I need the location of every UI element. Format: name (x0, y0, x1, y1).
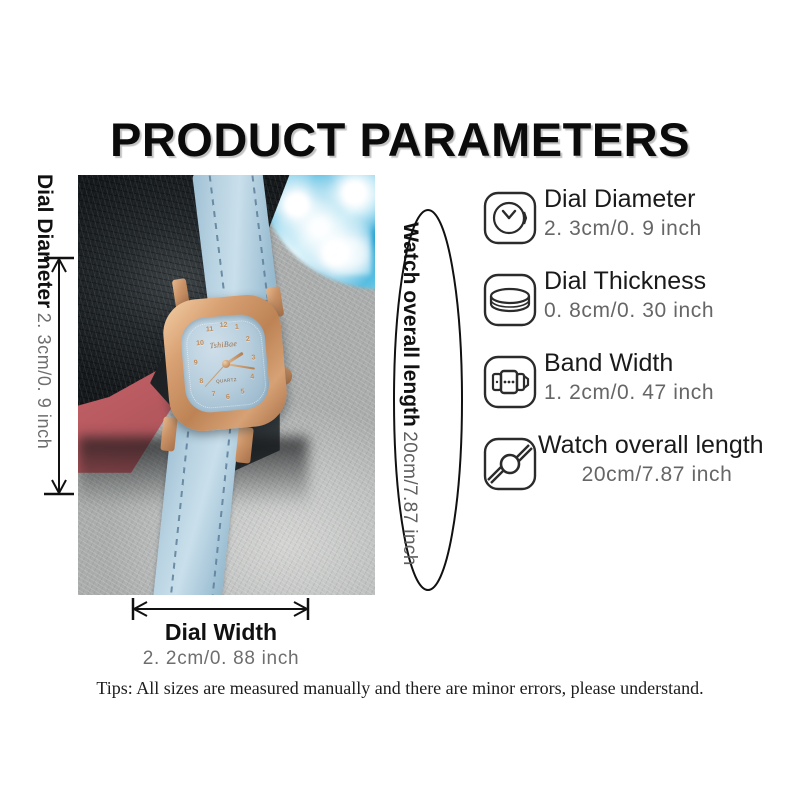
dial-numeral: 8 (199, 378, 204, 385)
cylinder-thickness-icon (482, 272, 538, 328)
dial-numeral: 1 (235, 324, 240, 331)
watch-overall-length-ellipse-label: Watch overall length 20cm/7.87 inch (398, 212, 422, 576)
dial-numeral: 5 (240, 388, 245, 395)
parameter-text-watch-overall-length: Watch overall length 20cm/7.87 inch (538, 430, 788, 489)
photo-tiedye-highlight (285, 183, 371, 275)
dial-numeral: 3 (251, 354, 256, 361)
parameter-row-dial-thickness: Dial Thickness 0. 8cm/0. 30 inch (478, 268, 796, 350)
watch-product-photo: TshiBae QUARTZ 11 12 1 10 2 9 3 8 4 7 6 … (78, 175, 375, 595)
dial-numeral: 12 (219, 322, 227, 330)
overall-length-label-title: Watch overall length (399, 222, 422, 427)
parameter-text-band-width: Band Width 1. 2cm/0. 47 inch (544, 348, 794, 407)
dial-numeral: 10 (196, 340, 204, 348)
overall-length-label-value: 20cm/7.87 inch (399, 431, 420, 565)
dial-diameter-dimension-label: Dial Diameter 2. 3cm/0. 9 inch (32, 174, 56, 414)
dial-numeral: 7 (211, 391, 216, 398)
product-parameters-infographic: PRODUCT PARAMETERS TshiBae QUARTZ 11 (0, 0, 800, 800)
parameter-row-band-width: Band Width 1. 2cm/0. 47 inch (478, 350, 796, 432)
parameter-text-dial-diameter: Dial Diameter 2. 3cm/0. 9 inch (544, 184, 794, 243)
parameter-title: Watch overall length (538, 430, 788, 461)
watch-buckle-icon (482, 354, 538, 410)
parameter-title: Band Width (544, 348, 794, 379)
watch-dial: TshiBae QUARTZ 11 12 1 10 2 9 3 8 4 7 6 … (179, 313, 271, 415)
dial-width-dimension-label: Dial Width 2. 2cm/0. 88 inch (90, 618, 352, 672)
dial-diameter-label-value: 2. 3cm/0. 9 inch (34, 313, 54, 450)
parameter-value: 1. 2cm/0. 47 inch (544, 379, 794, 407)
dial-diameter-label-title: Dial Diameter (33, 174, 56, 308)
dial-width-label-title: Dial Width (90, 618, 352, 646)
watch-case: TshiBae QUARTZ 11 12 1 10 2 9 3 8 4 7 6 … (160, 292, 289, 434)
parameter-row-watch-overall-length: Watch overall length 20cm/7.87 inch (478, 432, 796, 514)
dial-numeral: 9 (194, 359, 199, 366)
parameter-title: Dial Thickness (544, 266, 794, 297)
parameter-value: 2. 3cm/0. 9 inch (544, 215, 794, 243)
parameter-value: 0. 8cm/0. 30 inch (544, 297, 794, 325)
watch-face-icon (482, 190, 538, 246)
dial-width-label-value: 2. 2cm/0. 88 inch (90, 646, 352, 672)
parameter-value: 20cm/7.87 inch (538, 461, 788, 489)
dial-numeral: 4 (250, 374, 255, 381)
parameter-row-dial-diameter: Dial Diameter 2. 3cm/0. 9 inch (478, 186, 796, 268)
parameter-list: Dial Diameter 2. 3cm/0. 9 inch Dial Thic… (478, 186, 796, 514)
dial-numeral: 2 (246, 336, 251, 343)
parameter-text-dial-thickness: Dial Thickness 0. 8cm/0. 30 inch (544, 266, 794, 325)
dial-numeral: 11 (206, 326, 214, 334)
watch-length-icon (482, 436, 538, 492)
tips-note: Tips: All sizes are measured manually an… (0, 678, 800, 699)
page-title: PRODUCT PARAMETERS (0, 112, 800, 167)
dial-numeral: 6 (226, 394, 231, 401)
parameter-title: Dial Diameter (544, 184, 794, 215)
